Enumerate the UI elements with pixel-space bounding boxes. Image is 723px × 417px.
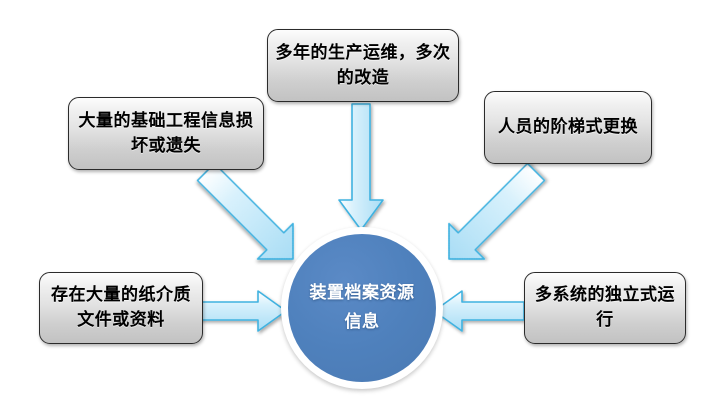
center-node-circle: 装置档案资源信息 <box>281 227 443 389</box>
node-label-bottom-right: 多系统的独立式运行 <box>531 283 679 332</box>
node-box-bottom-right[interactable]: 多系统的独立式运行 <box>524 272 686 344</box>
center-node-label: 装置档案资源信息 <box>288 279 436 337</box>
node-label-top-center: 多年的生产运维，多次的改造 <box>274 41 452 90</box>
node-box-bottom-left[interactable]: 存在大量的纸介质文件或资料 <box>39 272 203 344</box>
node-box-top-right[interactable]: 人员的阶梯式更换 <box>484 91 652 164</box>
node-box-top-center[interactable]: 多年的生产运维，多次的改造 <box>267 29 459 102</box>
node-box-top-left[interactable]: 大量的基础工程信息损坏或遗失 <box>68 97 264 170</box>
arrow-top-center-to-center <box>338 104 394 238</box>
center-node-fill: 装置档案资源信息 <box>288 234 436 382</box>
arrow-bottom-right-to-center <box>428 290 528 342</box>
node-label-bottom-left: 存在大量的纸介质文件或资料 <box>46 283 196 332</box>
arrow-top-right-to-center <box>418 160 546 275</box>
node-label-top-left: 大量的基础工程信息损坏或遗失 <box>75 109 257 158</box>
diagram-canvas: 装置档案资源信息 大量的基础工程信息损坏或遗失 多年的生产运维，多次的改造 人员… <box>0 0 723 417</box>
node-label-top-right: 人员的阶梯式更换 <box>491 115 645 140</box>
